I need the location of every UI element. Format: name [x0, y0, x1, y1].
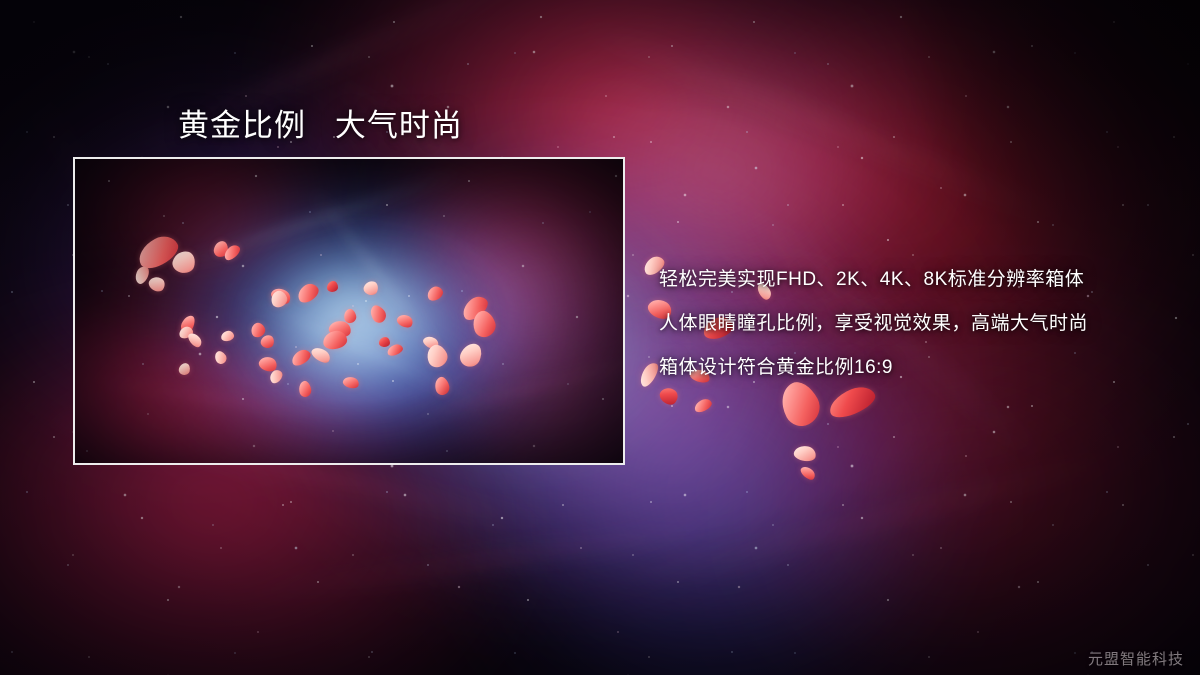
body-line: 箱体设计符合黄金比例16:9 [659, 346, 1088, 390]
led-display-preview-frame[interactable] [73, 157, 625, 465]
slide-root: 黄金比例 大气时尚 [0, 0, 1200, 675]
watermark: 元盟智能科技 [1088, 648, 1184, 669]
page-title: 黄金比例 大气时尚 [178, 100, 463, 145]
preview-image [75, 159, 623, 463]
body-line: 轻松完美实现FHD、2K、4K、8K标准分辨率箱体 [659, 258, 1088, 302]
body-text-block: 轻松完美实现FHD、2K、4K、8K标准分辨率箱体 人体眼睛瞳孔比例，享受视觉效… [659, 258, 1088, 390]
panel-vignette [75, 159, 623, 463]
body-line: 人体眼睛瞳孔比例，享受视觉效果，高端大气时尚 [659, 302, 1088, 346]
